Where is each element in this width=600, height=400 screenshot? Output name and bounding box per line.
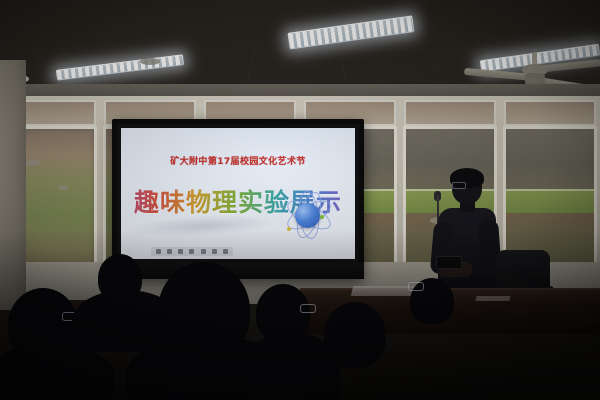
presenter-toolbar[interactable] <box>151 247 233 256</box>
grass-strip <box>506 189 594 212</box>
display-bezel: 矿大附中第17届校园文化艺术节 趣味物理实验展示 <box>117 124 359 263</box>
front-row-table <box>60 300 190 334</box>
documents-on-desk <box>351 286 439 296</box>
slide-content: 矿大附中第17届校园文化艺术节 趣味物理实验展示 <box>121 128 355 259</box>
pen-icon[interactable] <box>178 249 183 254</box>
audience-shoulders <box>244 332 340 400</box>
slide-subtitle: 矿大附中第17届校园文化艺术节 <box>121 154 355 167</box>
audience-shoulders <box>0 344 114 400</box>
transom-pane <box>504 100 596 126</box>
electron-dot <box>320 215 324 219</box>
ceiling <box>0 0 600 92</box>
atom-icon <box>277 191 339 241</box>
display-chin <box>112 263 364 279</box>
menu-icon[interactable] <box>156 249 161 254</box>
options-icon[interactable] <box>223 249 228 254</box>
atom-nucleus <box>295 203 320 228</box>
remote-control-device <box>436 256 462 269</box>
highlighter-icon[interactable] <box>189 249 194 254</box>
presentation-display[interactable]: 矿大附中第17届校园文化艺术节 趣味物理实验展示 <box>112 119 364 279</box>
wooden-desk <box>300 288 600 334</box>
pointer-icon[interactable] <box>167 249 172 254</box>
ceiling-vent <box>140 58 160 65</box>
documents-on-desk <box>475 296 510 301</box>
electron-dot <box>287 227 291 231</box>
audience-shoulders <box>126 336 294 400</box>
classroom-presentation-photo: 矿大附中第17届校园文化艺术节 趣味物理实验展示 <box>0 0 600 400</box>
fluorescent-light-center <box>287 15 414 49</box>
left-pillar <box>0 60 26 310</box>
eraser-icon[interactable] <box>201 249 206 254</box>
treeline <box>506 129 594 189</box>
eyeglasses-icon <box>452 182 466 189</box>
transom-pane <box>404 100 496 126</box>
stop-icon[interactable] <box>212 249 217 254</box>
